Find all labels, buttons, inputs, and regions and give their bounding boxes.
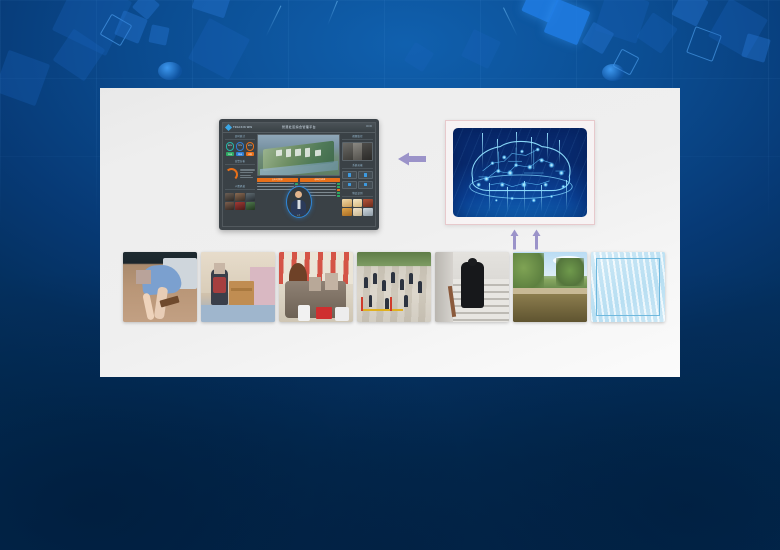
content-card: TRACKIN WIN 智慧社区综合管理平台 00:00 实时统计 86% 72…	[100, 88, 680, 377]
object-tile[interactable]	[363, 208, 373, 216]
photo-plaza-crowd[interactable]	[357, 252, 431, 322]
dashboard-header: TRACKIN WIN 智慧社区综合管理平台 00:00	[223, 123, 375, 133]
btn-blue[interactable]: 离线	[236, 152, 245, 156]
camera-feed[interactable]	[343, 143, 353, 160]
camera-feed[interactable]	[362, 143, 372, 160]
function-icon[interactable]	[342, 171, 357, 179]
alarm-stat-lines	[240, 169, 255, 179]
dashboard-center-column: 重点人员信息 设备运行状态	[257, 134, 340, 224]
face-tile[interactable]	[225, 202, 234, 210]
object-tile[interactable]	[353, 208, 363, 216]
photo-abstract-blue[interactable]	[591, 252, 665, 322]
three-d-city-map[interactable]	[257, 134, 340, 176]
camera-feed[interactable]	[353, 143, 363, 160]
dashboard-left-column: 实时统计 86% 72% 45% 在线 离线 告警 告警分析	[225, 134, 255, 224]
object-thumbnail-grid[interactable]	[342, 199, 373, 216]
photo-group-activity[interactable]	[279, 252, 353, 322]
gauge-button-row: 在线 离线 告警	[225, 152, 255, 156]
function-icon[interactable]	[358, 181, 373, 189]
arrow-up-scene-to-ai-1	[510, 229, 519, 250]
brain-light-rays	[453, 128, 587, 217]
photo-stairs-walking[interactable]	[435, 252, 509, 322]
privacy-mosaic	[309, 277, 321, 291]
object-panel-label: 物品识别	[342, 191, 373, 197]
privacy-mosaic	[136, 270, 151, 284]
left-top-panel-label: 实时统计	[225, 134, 255, 140]
left-mid-panel-label: 告警分析	[225, 159, 255, 165]
ai-brain-panel[interactable]	[445, 120, 595, 225]
dashboard-right-column: 视频监控 系统功能 物品识别	[342, 134, 373, 224]
photo-park-lake[interactable]	[513, 252, 587, 322]
gauge-3[interactable]: 45%	[246, 142, 255, 151]
privacy-mosaic	[214, 263, 225, 274]
function-icon-grid[interactable]	[342, 171, 373, 189]
portrait-panel-label: 人脸抓拍	[225, 184, 255, 190]
gauge-2[interactable]: 72%	[236, 142, 245, 151]
privacy-mosaic	[325, 273, 338, 290]
camera-panel-label: 视频监控	[342, 134, 373, 140]
face-capture-grid[interactable]	[225, 193, 255, 210]
dashboard-logo-text: TRACKIN WIN	[233, 126, 252, 129]
gauge-1[interactable]: 86%	[226, 142, 235, 151]
dashboard-title: 智慧社区综合管理平台	[282, 125, 316, 129]
avatar-head-icon	[295, 191, 302, 198]
scene-sample-photo-strip	[123, 252, 665, 322]
alarm-donut-chart	[225, 168, 238, 181]
photo-fall-detection[interactable]	[123, 252, 197, 322]
face-tile[interactable]	[235, 202, 244, 210]
function-panel-label: 系统功能	[342, 163, 373, 169]
function-icon[interactable]	[358, 171, 373, 179]
face-tile[interactable]	[225, 193, 234, 201]
dashboard-logo: TRACKIN WIN	[226, 125, 252, 130]
btn-orange[interactable]: 告警	[246, 152, 255, 156]
arrow-up-scene-to-ai-2	[532, 229, 541, 250]
center-left-bar-label: 重点人员信息	[257, 178, 298, 182]
ai-brain-image	[453, 128, 587, 217]
avatar-caption: 人员	[297, 214, 301, 217]
object-tile[interactable]	[353, 199, 363, 207]
object-tile[interactable]	[342, 199, 352, 207]
monitoring-dashboard[interactable]: TRACKIN WIN 智慧社区综合管理平台 00:00 实时统计 86% 72…	[219, 119, 379, 230]
face-tile[interactable]	[235, 193, 244, 201]
camera-feed-row[interactable]	[342, 142, 373, 161]
face-tile[interactable]	[246, 202, 255, 210]
photo-elderly-room[interactable]	[201, 252, 275, 322]
slide-canvas: TRACKIN WIN 智慧社区综合管理平台 00:00 实时统计 86% 72…	[0, 0, 780, 550]
person-avatar[interactable]: 人员	[286, 186, 312, 218]
gauge-row: 86% 72% 45%	[225, 142, 255, 151]
dashboard-time: 00:00	[366, 125, 372, 128]
function-icon[interactable]	[342, 181, 357, 189]
object-tile[interactable]	[342, 208, 352, 216]
arrow-left-ai-to-dashboard	[397, 152, 427, 166]
object-tile[interactable]	[363, 199, 373, 207]
logo-diamond-icon	[225, 123, 232, 130]
face-tile[interactable]	[246, 193, 255, 201]
center-right-bar-label: 设备运行状态	[300, 178, 341, 182]
btn-green[interactable]: 在线	[226, 152, 235, 156]
